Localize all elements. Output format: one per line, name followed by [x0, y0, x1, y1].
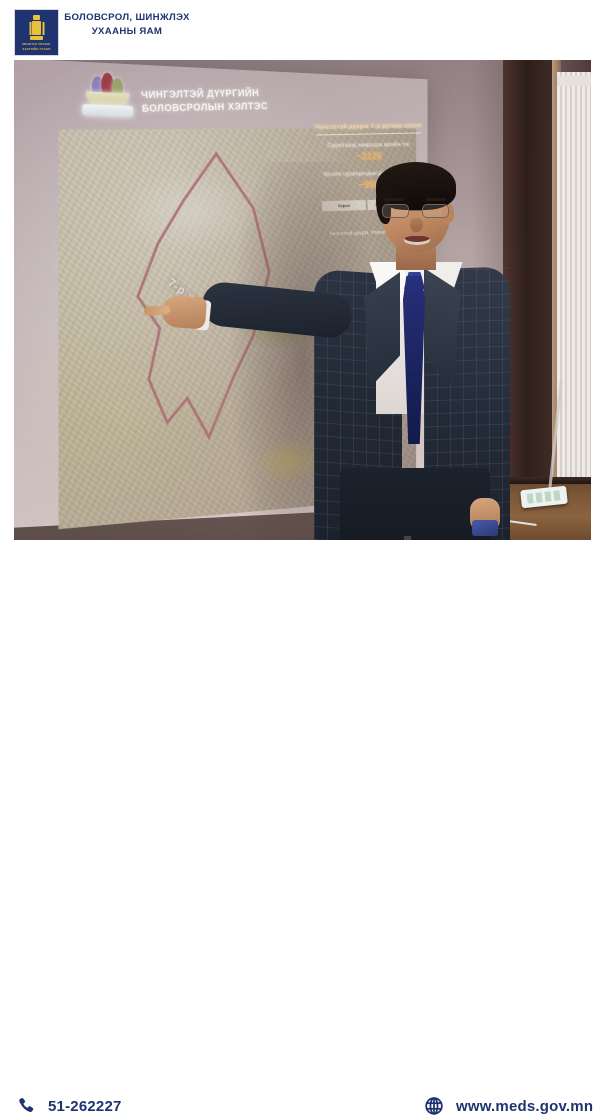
slide-stats-divider — [316, 132, 421, 135]
footer-phone-number: 51-262227 — [48, 1098, 122, 1115]
presenter-figure — [320, 168, 505, 540]
presenter-mouth — [404, 236, 430, 245]
ministry-logo: МОНГОЛ УЛСЫН ЗАСГИЙН ГАЗАР — [14, 9, 59, 56]
slide-emblem-icon — [80, 73, 135, 116]
photo-presenter-at-projector: ЧИНГЭЛТЭЙ ДҮҮРГИЙН БОЛОВСРОЛЫН ХЭЛТЭС 7-… — [14, 60, 591, 540]
footer-website-url: www.meds.gov.mn — [456, 1098, 593, 1115]
radiator — [557, 72, 591, 490]
soyombo-icon — [28, 15, 45, 41]
slide-title: ЧИНГЭЛТЭЙ ДҮҮРГИЙН БОЛОВСРОЛЫН ХЭЛТЭС — [141, 87, 303, 116]
phone-icon — [16, 1096, 36, 1116]
logo-caption: МОНГОЛ УЛСЫН ЗАСГИЙН ГАЗАР — [15, 42, 58, 51]
slide-stat1-label: Судалгаанд хамрагдах өрхийн тоо — [311, 141, 426, 150]
door-panel — [503, 60, 555, 490]
necktie — [402, 276, 426, 444]
eyeglasses-icon — [382, 204, 452, 219]
eyebrow-right — [426, 198, 446, 201]
logo-emblem: МОНГОЛ УЛСЫН ЗАСГИЙН ГАЗАР — [15, 10, 58, 55]
globe-icon — [424, 1096, 444, 1116]
handheld-device — [472, 520, 498, 536]
presenter-nose — [410, 218, 423, 232]
slide-stats-heading: Чингэлтэй дүүрэг 7-р дугаар хороо — [311, 121, 426, 131]
trousers — [340, 468, 490, 540]
footer-phone-contact[interactable]: 51-262227 — [16, 1096, 122, 1116]
logo-caption-line2: ЗАСГИЙН ГАЗАР — [15, 47, 58, 51]
footer-website-link[interactable]: www.meds.gov.mn — [424, 1096, 593, 1116]
pointing-finger — [144, 305, 171, 316]
ministry-name: БОЛОВСРОЛ, ШИНЖЛЭХ УХААНЫ ЯАМ — [62, 11, 192, 38]
page-footer: 51-262227 www.meds.gov.mn — [0, 540, 600, 600]
page-header: МОНГОЛ УЛСЫН ЗАСГИЙН ГАЗАР БОЛОВСРОЛ, ШИ… — [0, 0, 600, 60]
eyebrow-left — [384, 198, 404, 201]
